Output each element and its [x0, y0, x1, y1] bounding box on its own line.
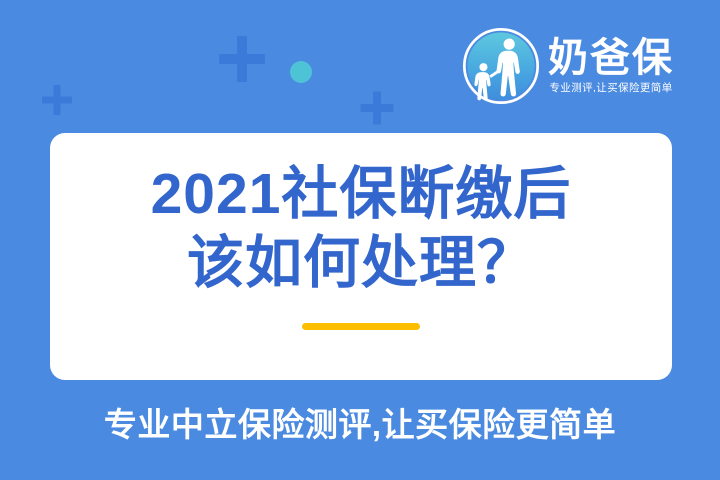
- footer-slogan: 专业中立保险测评,让买保险更简单: [0, 398, 720, 446]
- headline-card: 2021社保断缴后 该如何处理？: [50, 133, 672, 380]
- brand-name: 奶爸保: [548, 37, 674, 79]
- page-title-line-1: 2021社保断缴后: [151, 161, 572, 228]
- poster-canvas: 奶爸保 专业测评,让买保险更简单 2021社保断缴后 该如何处理？ 专业中立保险…: [0, 0, 720, 480]
- circle-teal-dot-icon: [290, 61, 312, 83]
- plus-top-left-small-icon: [42, 85, 72, 115]
- brand-tagline: 专业测评,让买保险更简单: [549, 82, 672, 95]
- page-title-line-2: 该如何处理？: [187, 230, 535, 297]
- title-underline-accent: [302, 323, 420, 330]
- brand-logo: 奶爸保 专业测评,让买保险更简单: [462, 27, 674, 105]
- parent-and-child-circle-icon: [462, 27, 540, 105]
- brand-text-group: 奶爸保 专业测评,让买保险更简单: [548, 37, 674, 95]
- plus-top-center-large-icon: [219, 36, 265, 82]
- plus-mid-right-icon: [360, 91, 393, 124]
